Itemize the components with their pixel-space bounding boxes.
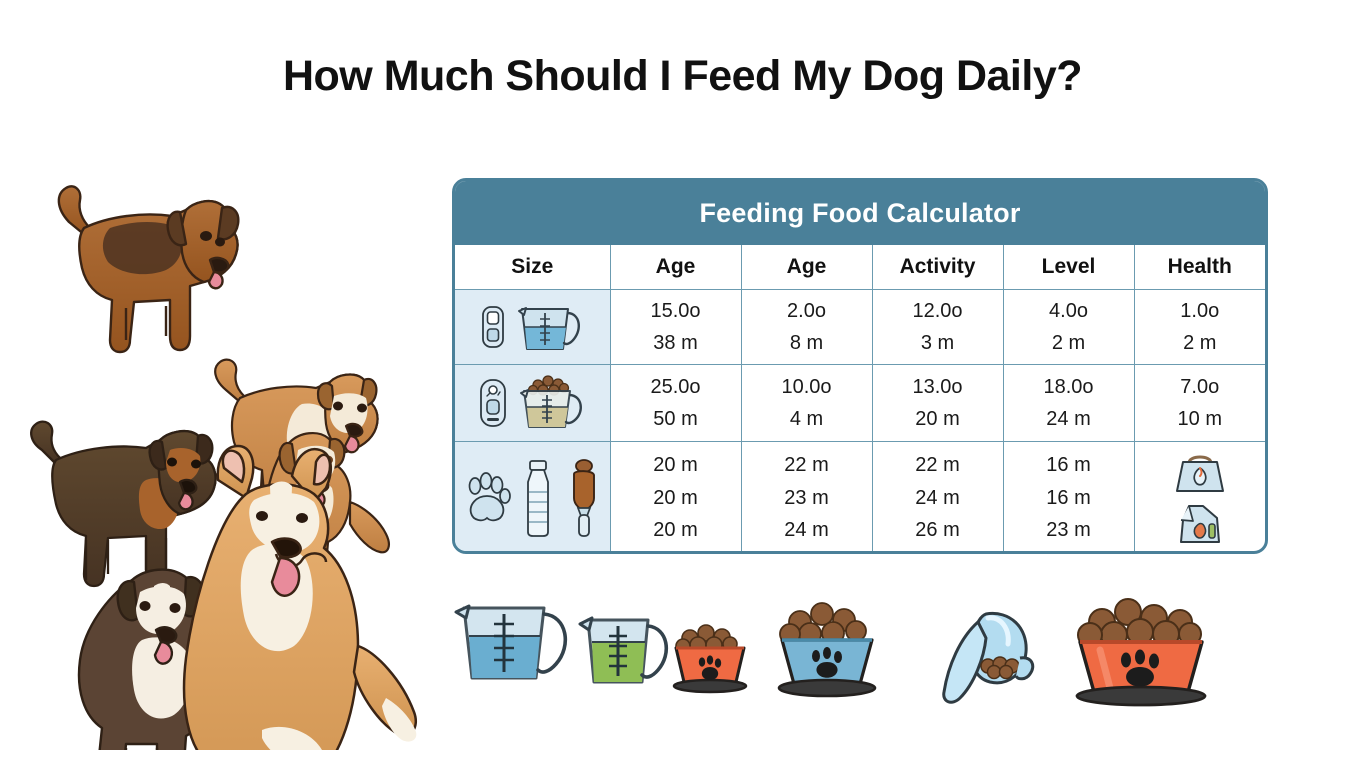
value-line: 20 m — [611, 514, 741, 546]
value-line: 2.0o — [742, 295, 872, 327]
cell-row3-col3: 22 m 24 m 26 m — [872, 442, 1003, 554]
value-line: 10.0o — [742, 371, 872, 403]
column-header-size[interactable]: Size — [455, 245, 610, 290]
standing-dark-brown-dog — [31, 422, 215, 586]
cell-row3-col5-health-icons — [1134, 442, 1265, 554]
cell-row1-col3: 12.0o 3 m — [872, 290, 1003, 365]
value-line: 16 m — [1004, 449, 1134, 481]
page-root: How Much Should I Feed My Dog Daily? — [0, 0, 1365, 768]
value-line: 50 m — [611, 403, 741, 435]
value-line: 4.0o — [1004, 295, 1134, 327]
value-line: 12.0o — [873, 295, 1003, 327]
scoop-tilted-icon — [944, 613, 1033, 702]
size-cell-row-3 — [455, 442, 610, 554]
table-row: 15.0o 38 m 2.0o 8 m 12.0o 3 m 4.0o 2 m 1… — [455, 290, 1265, 365]
value-line: 10 m — [1135, 403, 1266, 435]
cell-row1-col1: 15.0o 38 m — [610, 290, 741, 365]
value-line: 23 m — [1004, 514, 1134, 546]
dog-bowl-orange-large-icon — [1077, 599, 1205, 705]
cell-row3-col4: 16 m 16 m 23 m — [1003, 442, 1134, 554]
value-line: 24 m — [1004, 403, 1134, 435]
column-header-health[interactable]: Health — [1134, 245, 1265, 290]
column-header-activity[interactable]: Activity — [872, 245, 1003, 290]
bottle-icon — [521, 458, 555, 538]
size-cell-row-1 — [455, 290, 610, 365]
value-line: 2 m — [1004, 327, 1134, 359]
value-line: 24 m — [742, 514, 872, 546]
standing-brown-dog-large — [59, 186, 238, 352]
cell-row2-col1: 25.0o 50 m — [610, 365, 741, 442]
cell-row1-col2: 2.0o 8 m — [741, 290, 872, 365]
value-line: 16 m — [1004, 482, 1134, 514]
measuring-cup-water-icon — [516, 299, 584, 355]
value-line: 22 m — [873, 449, 1003, 481]
value-line: 20 m — [611, 449, 741, 481]
value-line: 15.0o — [611, 295, 741, 327]
dogs-illustration — [14, 150, 444, 750]
column-header-level[interactable]: Level — [1003, 245, 1134, 290]
cell-row3-col2: 22 m 23 m 24 m — [741, 442, 872, 554]
value-line: 18.0o — [1004, 371, 1134, 403]
pouch-icon — [480, 303, 506, 351]
value-line: 8 m — [742, 327, 872, 359]
measuring-cup-blue-icon — [456, 606, 565, 678]
size-cell-row-2 — [455, 365, 610, 442]
dog-bowl-orange-small-icon — [674, 625, 746, 692]
cell-row2-col5: 7.0o 10 m — [1134, 365, 1265, 442]
table-row: 25.0o 50 m 10.0o 4 m 13.0o 20 m 18.0o 24… — [455, 365, 1265, 442]
value-line: 22 m — [742, 449, 872, 481]
value-line: 13.0o — [873, 371, 1003, 403]
cell-row2-col3: 13.0o 20 m — [872, 365, 1003, 442]
measuring-cup-green-icon — [580, 618, 666, 682]
feeding-calculator-table: Feeding Food Calculator Size Age Age Act… — [452, 178, 1268, 554]
value-line: 20 m — [873, 403, 1003, 435]
value-line: 20 m — [611, 482, 741, 514]
food-bag-icon — [1171, 449, 1229, 497]
cell-row2-col4: 18.0o 24 m — [1003, 365, 1134, 442]
page-title: How Much Should I Feed My Dog Daily? — [0, 52, 1365, 101]
value-line: 1.0o — [1135, 295, 1266, 327]
bottom-icon-strip — [452, 590, 1272, 710]
value-line: 38 m — [611, 327, 741, 359]
sitting-tan-shepherd-dog — [184, 446, 416, 750]
measuring-cup-kibble-icon — [518, 373, 586, 433]
tag-icon — [478, 377, 508, 429]
cell-row1-col5: 1.0o 2 m — [1134, 290, 1265, 365]
value-line: 24 m — [873, 482, 1003, 514]
column-header-age-1[interactable]: Age — [610, 245, 741, 290]
value-line: 26 m — [873, 514, 1003, 546]
table-header-row: Size Age Age Activity Level Health — [455, 245, 1265, 290]
cell-row2-col2: 10.0o 4 m — [741, 365, 872, 442]
table-header-title: Feeding Food Calculator — [699, 198, 1020, 229]
table-header-bar: Feeding Food Calculator — [455, 181, 1265, 245]
column-header-age-2[interactable]: Age — [741, 245, 872, 290]
cell-row1-col4: 4.0o 2 m — [1003, 290, 1134, 365]
value-line: 3 m — [873, 327, 1003, 359]
value-line: 4 m — [742, 403, 872, 435]
dog-bowl-blue-icon — [779, 603, 875, 696]
paw-print-icon — [465, 472, 511, 524]
treat-bag-icon — [1171, 500, 1229, 546]
value-line: 23 m — [742, 482, 872, 514]
calculator-grid: Size Age Age Activity Level Health — [455, 245, 1265, 554]
cell-row3-col1: 20 m 20 m 20 m — [610, 442, 741, 554]
scoop-icon — [565, 458, 599, 538]
value-line: 7.0o — [1135, 371, 1266, 403]
table-row: 20 m 20 m 20 m 22 m 23 m 24 m 22 m 24 m … — [455, 442, 1265, 554]
value-line: 2 m — [1135, 327, 1266, 359]
value-line: 25.0o — [611, 371, 741, 403]
